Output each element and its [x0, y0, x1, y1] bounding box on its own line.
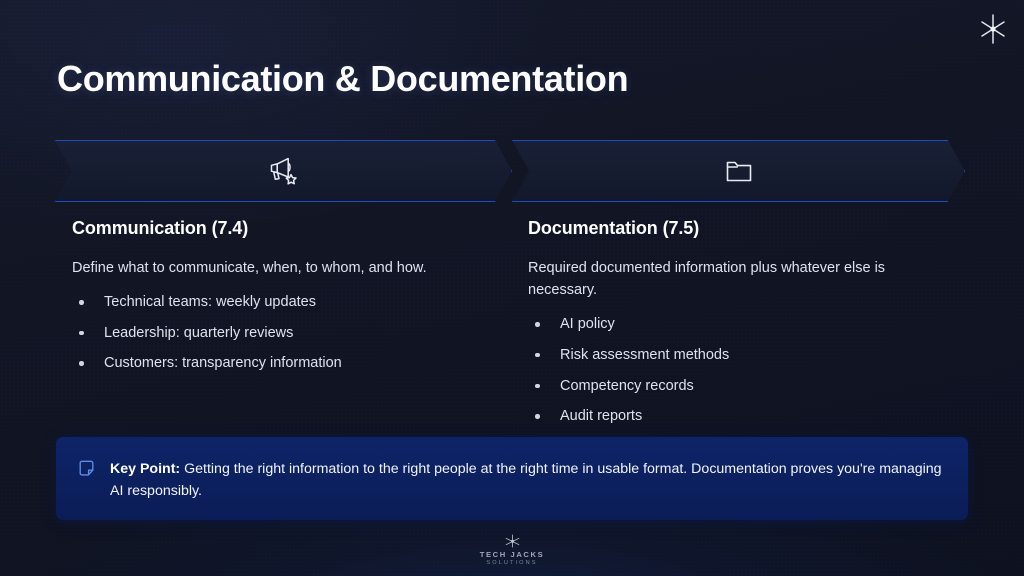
bullet-icon [535, 353, 540, 358]
bullet-icon [535, 384, 540, 389]
column-description: Required documented information plus wha… [528, 257, 953, 301]
column-heading: Documentation (7.5) [528, 218, 953, 239]
footer-logo: TECH JACKS SOLUTIONS [0, 534, 1024, 567]
key-point-label: Key Point: [110, 461, 180, 477]
list-item: Audit reports [528, 407, 953, 427]
column-description: Define what to communicate, when, to who… [72, 257, 502, 279]
star-burst-icon [503, 534, 522, 549]
column-list: AI policy Risk assessment methods Compet… [528, 315, 953, 427]
list-item-label: Technical teams: weekly updates [104, 294, 316, 310]
list-item-label: Competency records [560, 378, 694, 394]
sparkle-icon [975, 11, 1011, 47]
megaphone-star-icon [267, 154, 301, 188]
note-icon [78, 460, 95, 477]
bullet-icon [79, 361, 84, 366]
list-item: Competency records [528, 377, 953, 397]
column-heading: Communication (7.4) [72, 218, 502, 239]
key-point-body: Getting the right information to the rig… [110, 461, 942, 499]
footer-logo-name: TECH JACKS [480, 550, 545, 559]
list-item-label: Audit reports [560, 408, 642, 424]
list-item: Leadership: quarterly reviews [72, 324, 502, 344]
bullet-icon [535, 322, 540, 327]
list-item-label: Risk assessment methods [560, 347, 729, 363]
column-list: Technical teams: weekly updates Leadersh… [72, 293, 502, 374]
list-item: Customers: transparency information [72, 354, 502, 374]
list-item: AI policy [528, 315, 953, 335]
bullet-icon [79, 300, 84, 305]
banner-documentation [512, 140, 965, 202]
key-point-text: Key Point: Getting the right information… [110, 459, 942, 502]
bullet-icon [79, 331, 84, 336]
banner-communication [55, 140, 512, 202]
column-documentation: Documentation (7.5) Required documented … [528, 218, 953, 438]
slide-canvas: Communication & Documentation Communicat… [0, 0, 1024, 576]
key-point-callout: Key Point: Getting the right information… [56, 437, 968, 520]
page-title: Communication & Documentation [57, 58, 628, 100]
bullet-icon [535, 414, 540, 419]
list-item-label: Leadership: quarterly reviews [104, 325, 293, 341]
list-item-label: Customers: transparency information [104, 355, 342, 371]
folder-icon [724, 156, 754, 186]
list-item-label: AI policy [560, 316, 615, 332]
column-communication: Communication (7.4) Define what to commu… [72, 218, 502, 385]
list-item: Technical teams: weekly updates [72, 293, 502, 313]
list-item: Risk assessment methods [528, 346, 953, 366]
footer-logo-sub: SOLUTIONS [486, 560, 537, 566]
